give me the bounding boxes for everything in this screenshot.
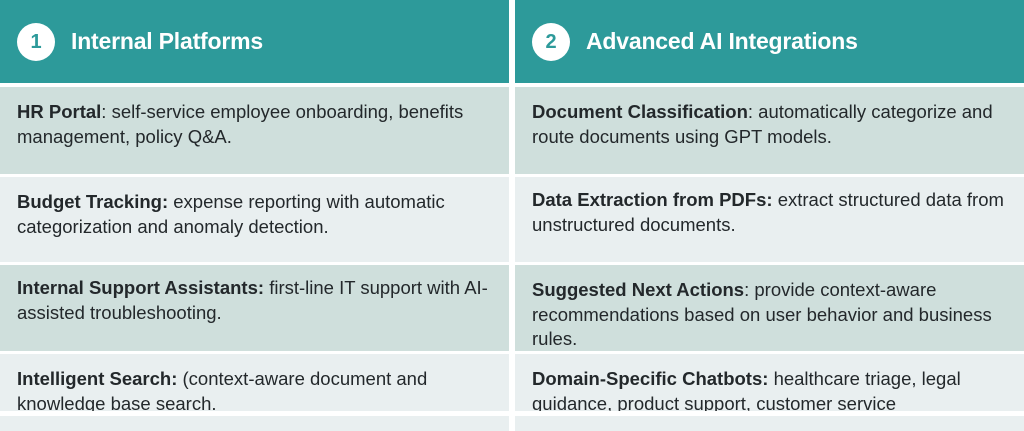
table-row: Data Extraction from PDFs: extract struc… <box>515 177 1024 262</box>
row-separator: : <box>744 279 754 300</box>
row-term: Budget Tracking: <box>17 191 168 212</box>
column-title-2: Advanced AI Integrations <box>586 28 858 55</box>
row-term: Domain-Specific Chatbots: <box>532 368 768 389</box>
column-number-2: 2 <box>545 32 556 52</box>
column-number-badge-1: 1 <box>17 23 55 61</box>
table-row-continuation <box>0 416 509 431</box>
table-row-continuation <box>515 416 1024 431</box>
row-term: Internal Support Assistants: <box>17 277 264 298</box>
table-row: Budget Tracking: expense reporting with … <box>0 177 509 262</box>
two-column-comparison-table: 1 Internal Platforms 2 Advanced AI Integ… <box>0 0 1024 431</box>
column-number-1: 1 <box>30 32 41 52</box>
table-row: Document Classification: automatically c… <box>515 87 1024 174</box>
column-header-1: 1 Internal Platforms <box>0 0 509 83</box>
column-header-2: 2 Advanced AI Integrations <box>515 0 1024 83</box>
row-separator: : <box>748 101 758 122</box>
row-term: Intelligent Search: <box>17 368 177 389</box>
column-title-1: Internal Platforms <box>71 28 263 55</box>
row-separator: : <box>101 101 111 122</box>
row-term: Data Extraction from PDFs: <box>532 189 773 210</box>
table-row: Intelligent Search: (context-aware docum… <box>0 354 509 411</box>
table-row: Suggested Next Actions: provide context-… <box>515 265 1024 351</box>
table-row: HR Portal: self-service employee onboard… <box>0 87 509 174</box>
column-number-badge-2: 2 <box>532 23 570 61</box>
row-term: Suggested Next Actions <box>532 279 744 300</box>
row-term: Document Classification <box>532 101 748 122</box>
table-row: Internal Support Assistants: first-line … <box>0 265 509 351</box>
table-row: Domain-Specific Chatbots: healthcare tri… <box>515 354 1024 411</box>
row-term: HR Portal <box>17 101 101 122</box>
